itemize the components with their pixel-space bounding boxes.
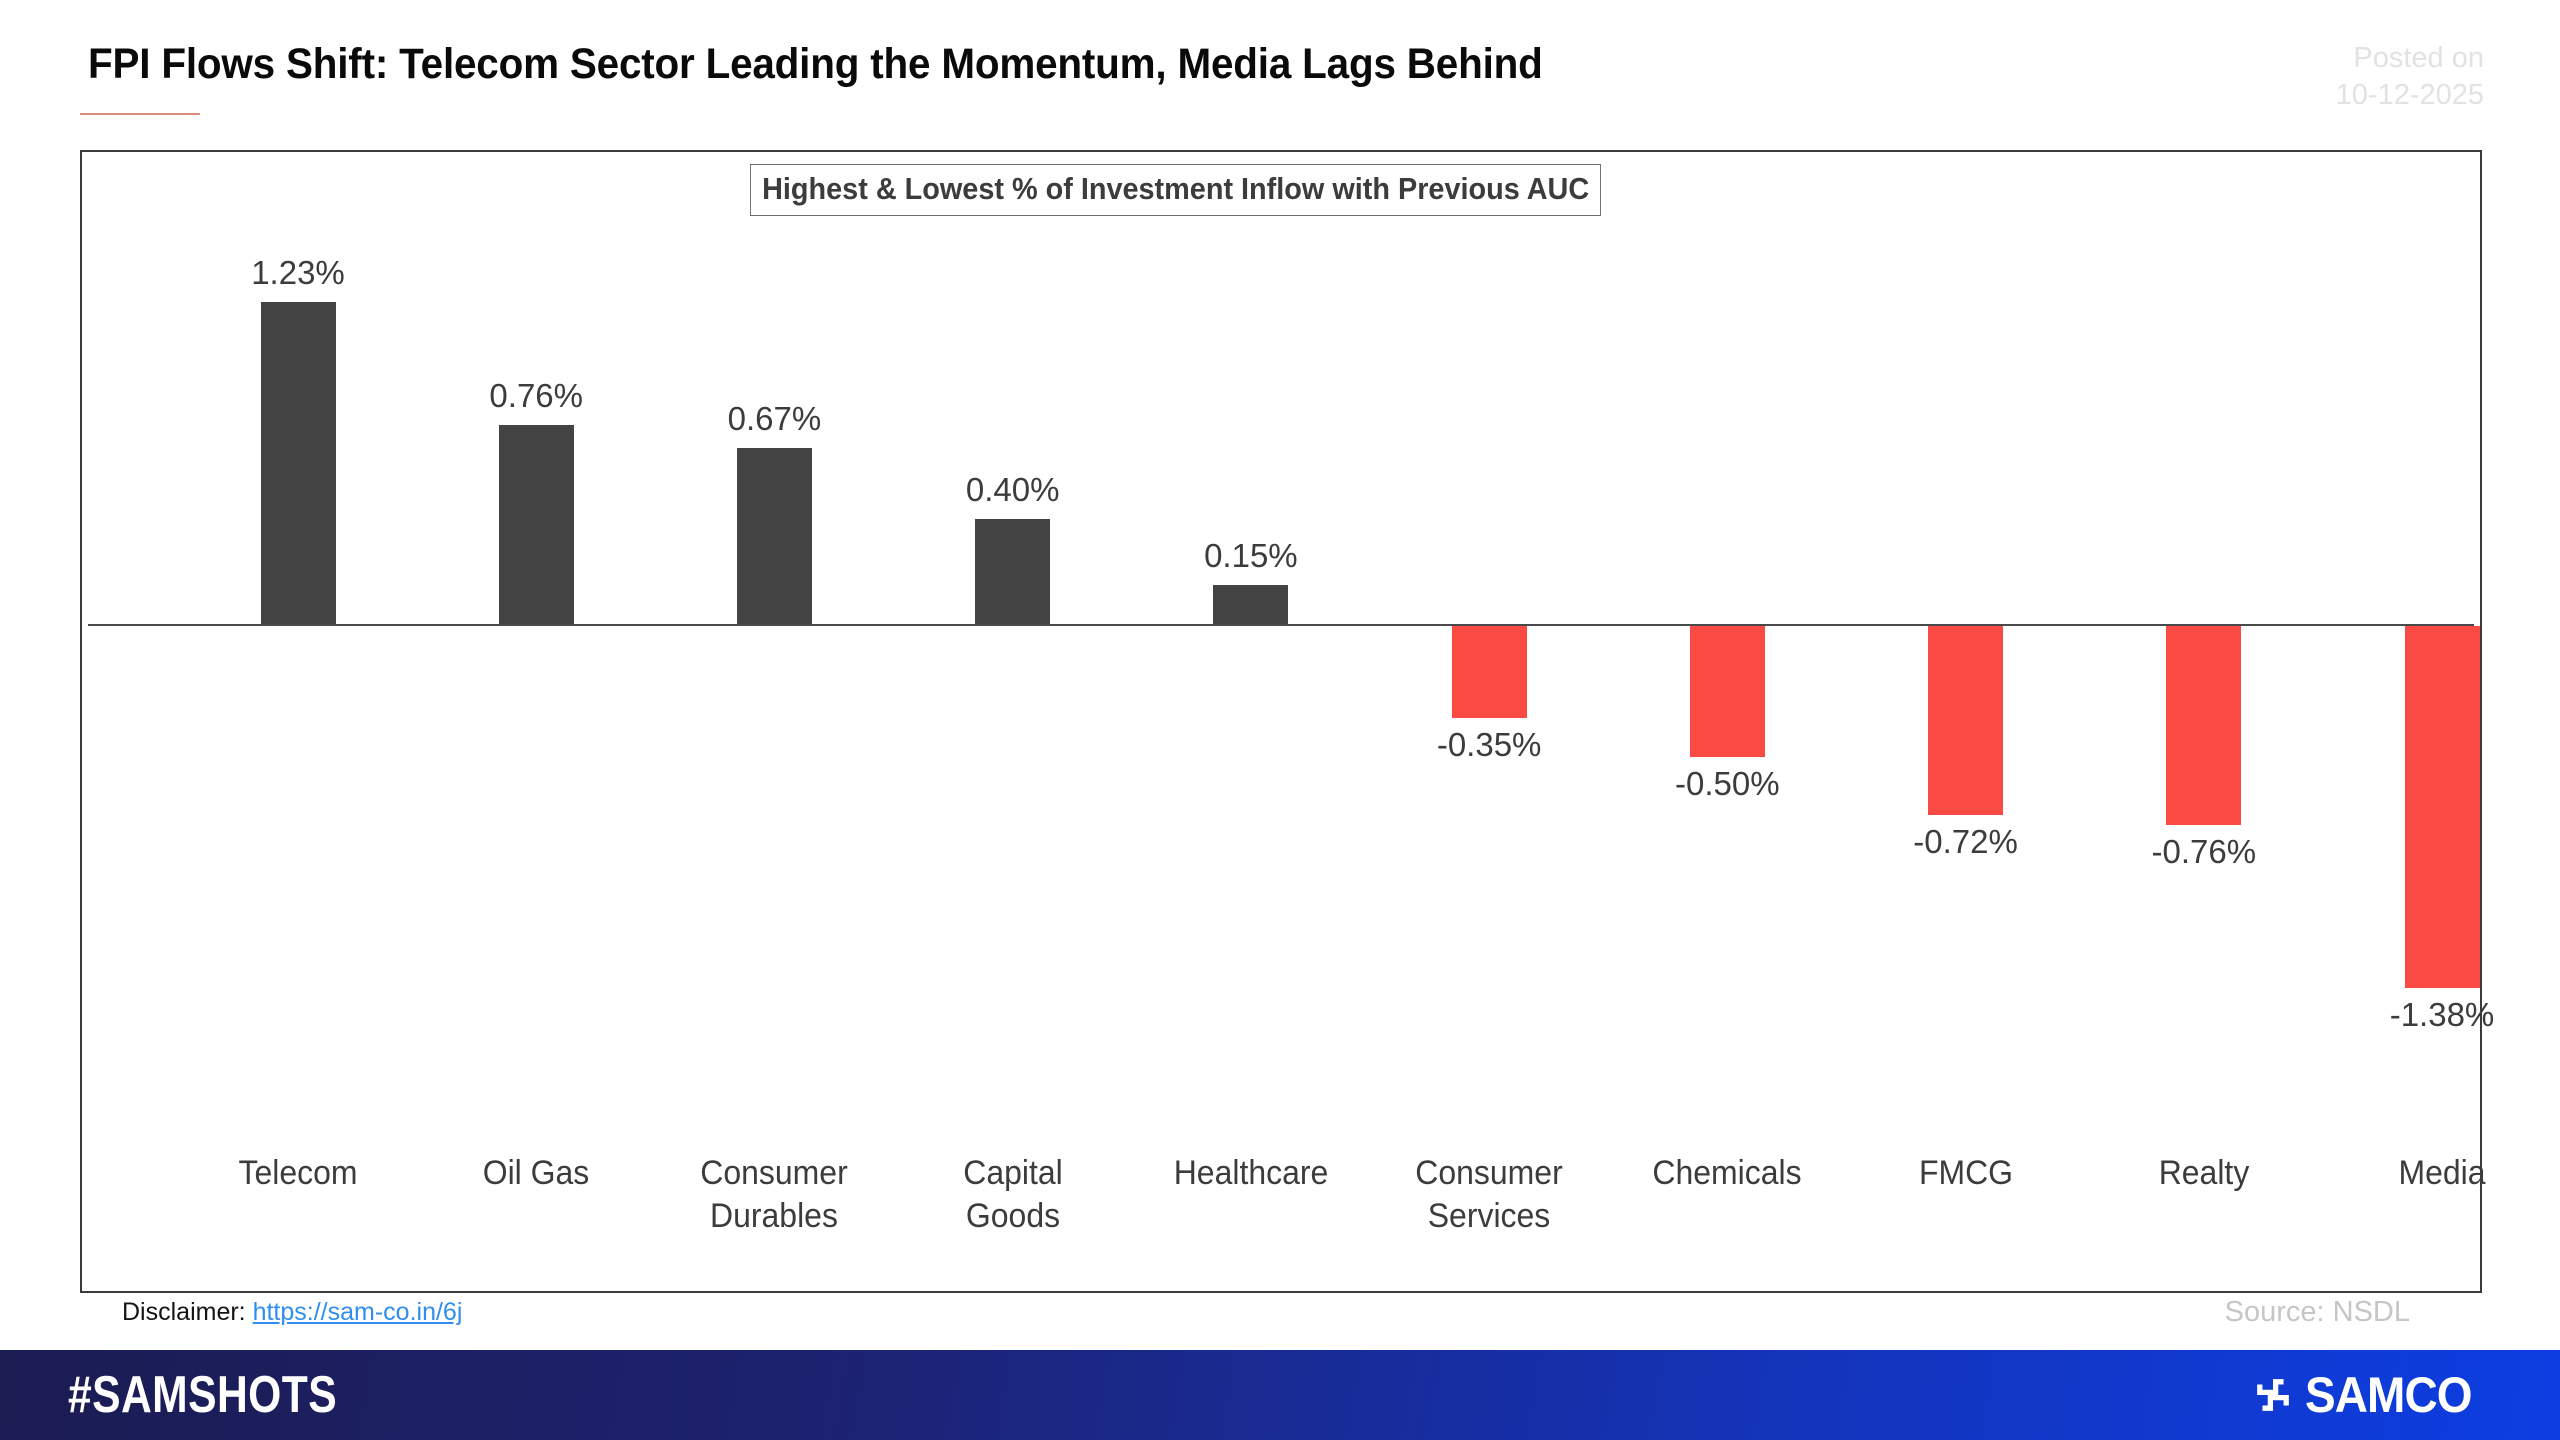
category-label-telecom: Telecom (199, 1152, 396, 1195)
category-label-line: Telecom (199, 1152, 396, 1195)
hashtag-samshots: #SAMSHOTS (68, 1365, 337, 1425)
category-label-line: Consumer (1390, 1152, 1587, 1195)
screenshot-root: FPI Flows Shift: Telecom Sector Leading … (0, 0, 2560, 1440)
bar-value-label: 0.40% (913, 471, 1113, 509)
category-label-realty: Realty (2105, 1152, 2302, 1195)
bar-telecom (261, 302, 336, 624)
bar-chemicals (1690, 626, 1765, 757)
bar-value-label: -0.50% (1627, 765, 1827, 803)
bar-value-label: -0.35% (1389, 726, 1589, 764)
samco-pinwheel-icon (2251, 1373, 2295, 1417)
disclaimer-link[interactable]: https://sam-co.in/6j (253, 1298, 463, 1326)
category-axis: TelecomOil GasConsumerDurablesCapitalGoo… (82, 1152, 2480, 1292)
bar-capital-goods (975, 519, 1050, 624)
page-title: FPI Flows Shift: Telecom Sector Leading … (88, 40, 1543, 89)
zero-baseline (88, 624, 2474, 626)
bar-consumer-durables (737, 448, 812, 624)
category-label-healthcare: Healthcare (1152, 1152, 1349, 1195)
disclaimer: Disclaimer: https://sam-co.in/6j (122, 1298, 462, 1327)
bar-consumer-services (1452, 626, 1527, 718)
page-header: FPI Flows Shift: Telecom Sector Leading … (0, 0, 2560, 150)
bar-realty (2166, 626, 2241, 825)
category-label-media: Media (2343, 1152, 2540, 1195)
bar-fmcg (1928, 626, 2003, 815)
bar-healthcare (1213, 585, 1288, 624)
category-label-consumer-durables: ConsumerDurables (676, 1152, 873, 1238)
category-label-line: Realty (2105, 1152, 2302, 1195)
bar-value-label: 1.23% (198, 254, 398, 292)
bar-media (2405, 626, 2480, 988)
category-label-line: Services (1390, 1195, 1587, 1238)
bar-value-label: -0.76% (2104, 833, 2304, 871)
bottom-banner: #SAMSHOTS SAMCO (0, 1350, 2560, 1440)
category-label-fmcg: FMCG (1867, 1152, 2064, 1195)
category-label-chemicals: Chemicals (1629, 1152, 1826, 1195)
bar-value-label: -1.38% (2342, 996, 2542, 1034)
category-label-line: Goods (914, 1195, 1111, 1238)
category-label-line: FMCG (1867, 1152, 2064, 1195)
category-label-line: Media (2343, 1152, 2540, 1195)
category-label-line: Durables (676, 1195, 873, 1238)
bar-value-label: 0.67% (674, 400, 874, 438)
source-note: Source: NSDL (2225, 1296, 2410, 1329)
bar-value-label: -0.72% (1866, 823, 2066, 861)
category-label-line: Consumer (676, 1152, 873, 1195)
samco-logo: SAMCO (2251, 1366, 2486, 1424)
bar-oil-gas (499, 425, 574, 624)
category-label-line: Healthcare (1152, 1152, 1349, 1195)
posted-on-date: 10-12-2025 (2336, 77, 2484, 114)
chart-frame: Highest & Lowest % of Investment Inflow … (80, 150, 2482, 1293)
chart-plot-area: 1.23%0.76%0.67%0.40%0.15%-0.35%-0.50%-0.… (82, 152, 2480, 1152)
category-label-line: Capital (914, 1152, 1111, 1195)
bar-value-label: 0.76% (436, 377, 636, 415)
posted-on-block: Posted on 10-12-2025 (2336, 40, 2484, 114)
category-label-consumer-services: ConsumerServices (1390, 1152, 1587, 1238)
title-accent-rule (80, 113, 200, 115)
posted-on-label: Posted on (2336, 40, 2484, 77)
category-label-line: Oil Gas (438, 1152, 635, 1195)
disclaimer-label: Disclaimer: (122, 1298, 246, 1326)
bar-value-label: 0.15% (1151, 537, 1351, 575)
category-label-oil-gas: Oil Gas (438, 1152, 635, 1195)
samco-wordmark: SAMCO (2305, 1366, 2472, 1424)
category-label-capital-goods: CapitalGoods (914, 1152, 1111, 1238)
category-label-line: Chemicals (1629, 1152, 1826, 1195)
